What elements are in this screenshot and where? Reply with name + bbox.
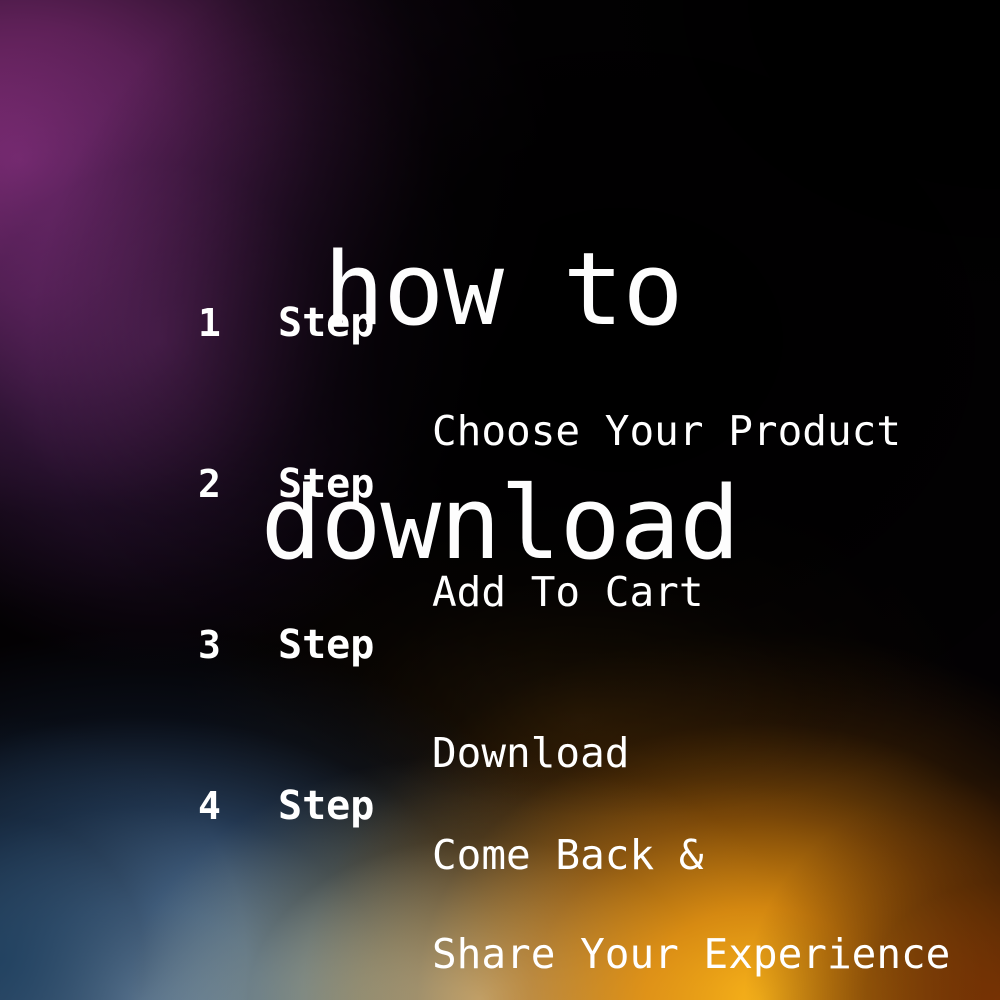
poster-content: how to download 1 Step Choose Your Produ… — [0, 0, 1000, 1000]
step-description-4: Come Back & Share Your Experience — [432, 773, 950, 1000]
step-number-3: 3 — [198, 618, 221, 672]
step-description-4-line-2: Share Your Experience — [432, 938, 950, 971]
step-description-3-line-1: Download — [432, 726, 679, 780]
steps-list: 1 Step Choose Your Product 2 Step Add To… — [198, 296, 998, 940]
step-description-2-line-1: Add To Cart — [432, 565, 704, 619]
step-row-2: 2 Step Add To Cart — [198, 457, 998, 618]
step-description-1-line-1: Choose Your Product — [432, 404, 901, 458]
step-number-2: 2 — [198, 457, 221, 511]
step-label-3: Step — [278, 618, 374, 672]
step-row-3: 3 Step Download — [198, 618, 998, 779]
step-label-4: Step — [278, 779, 374, 833]
how-to-download-poster: how to download 1 Step Choose Your Produ… — [0, 0, 1000, 1000]
step-number-4: 4 — [198, 779, 221, 833]
step-label-1: Step — [278, 296, 374, 350]
step-description-4-line-1: Come Back & — [432, 839, 950, 872]
step-row-1: 1 Step Choose Your Product — [198, 296, 998, 457]
step-label-2: Step — [278, 457, 374, 511]
step-number-1: 1 — [198, 296, 221, 350]
step-row-4: 4 Step Come Back & Share Your Experience — [198, 779, 998, 940]
